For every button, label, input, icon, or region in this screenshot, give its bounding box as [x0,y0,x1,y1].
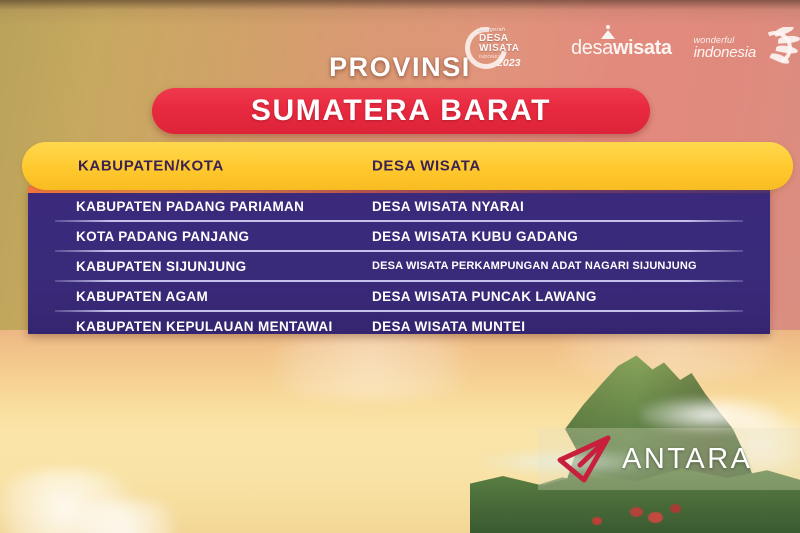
table-row: KABUPATEN AGAM DESA WISATA PUNCAK LAWANG [28,282,770,310]
table-body: KABUPATEN PADANG PARIAMAN DESA WISATA NY… [28,186,770,334]
cell-kabupaten-kota: KABUPATEN KEPULAUAN MENTAWAI [76,319,333,334]
desa-wisata-logo: desawisata [571,38,672,58]
column-header-desa-wisata: DESA WISATA [372,158,481,175]
cell-desa-wisata: DESA WISATA MUNTEI [372,319,525,334]
table-row: KABUPATEN SIJUNJUNG DESA WISATA PERKAMPU… [28,252,770,280]
table-header-bar: KABUPATEN/KOTA DESA WISATA [22,142,793,190]
table-row: KABUPATEN KEPULAUAN MENTAWAI DESA WISATA… [28,312,770,340]
garuda-swirl-icon [756,27,800,69]
flower [592,517,602,525]
antara-brand-text: ANTARA [622,445,752,474]
antara-watermark: ANTARA [538,428,800,490]
province-title-pill: SUMATERA BARAT [152,88,650,134]
mountain-landscape [470,318,800,533]
logo-word-desa: desa [571,37,613,59]
cell-desa-wisata: DESA WISATA PUNCAK LAWANG [372,289,597,304]
flower [630,507,643,517]
cloud [240,330,500,400]
logo-word-wisata: wisata [613,37,672,59]
cell-kabupaten-kota: KABUPATEN PADANG PARIAMAN [76,199,304,214]
cell-desa-wisata: DESA WISATA KUBU GADANG [372,229,578,244]
flower [670,504,681,513]
cell-kabupaten-kota: KABUPATEN AGAM [76,289,208,304]
anugerah-desa-wisata-2023-logo: Anugerah DESA WISATA INDONESIA 2023 [465,25,549,71]
desa-wisata-mark-icon [601,25,615,39]
logo-line-desa-wisata: DESA WISATA [479,34,549,55]
province-name: SUMATERA BARAT [251,94,551,128]
logo-line-wonderful: wonderful [694,36,756,45]
logo-line-indonesia: INDONESIA [479,55,549,60]
cell-desa-wisata: DESA WISATA PERKAMPUNGAN ADAT NAGARI SIJ… [372,260,697,272]
column-header-kabupaten-kota: KABUPATEN/KOTA [78,158,224,175]
antara-logo-icon [554,435,616,483]
mountain-group [470,318,800,533]
cell-kabupaten-kota: KABUPATEN SIJUNJUNG [76,259,246,274]
wonderful-indonesia-logo: wonderful indonesia [694,27,800,69]
cell-desa-wisata: DESA WISATA NYARAI [372,199,524,214]
logo-strip: Anugerah DESA WISATA INDONESIA 2023 desa… [465,22,800,74]
flower [648,512,663,523]
logo-year: 2023 [497,58,549,69]
logo-line-indonesia: indonesia [694,45,756,60]
table-row: KABUPATEN PADANG PARIAMAN DESA WISATA NY… [28,192,770,220]
cell-kabupaten-kota: KOTA PADANG PANJANG [76,229,249,244]
table-row: KOTA PADANG PANJANG DESA WISATA KUBU GAD… [28,222,770,250]
